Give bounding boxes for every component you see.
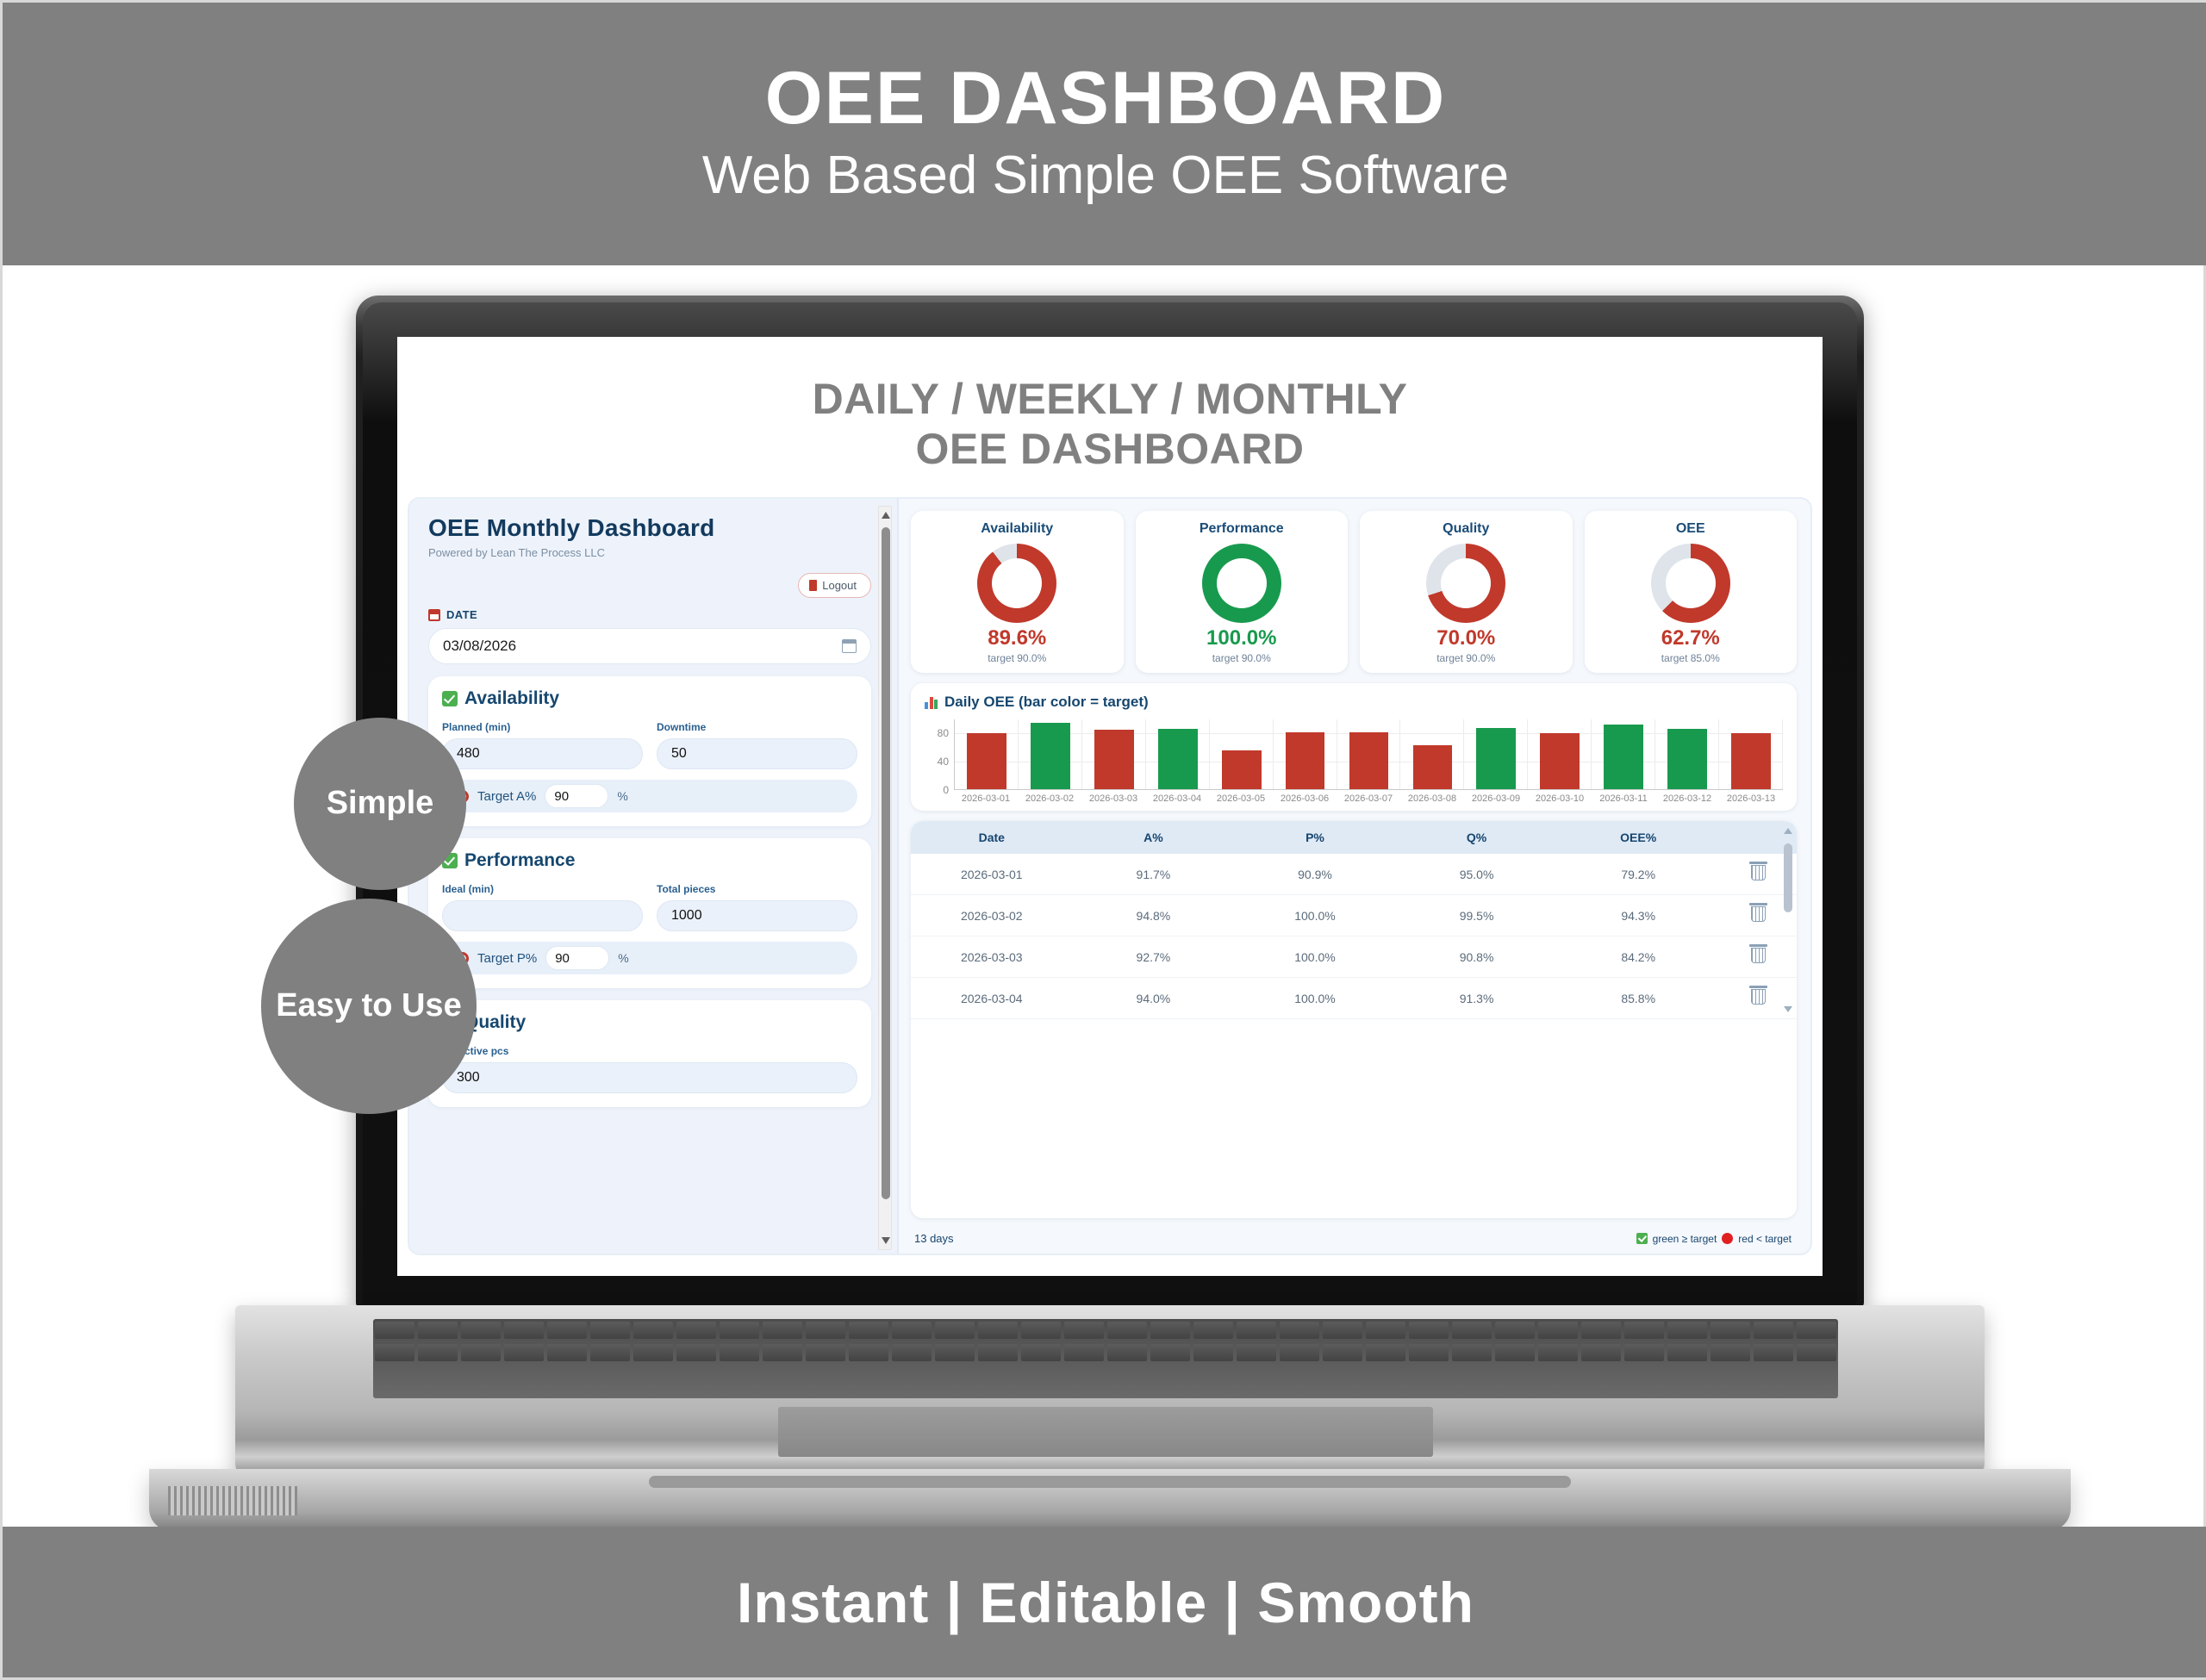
delete-icon[interactable] (1751, 948, 1766, 963)
x-tick-label: 2026-03-02 (1018, 793, 1081, 804)
key (1323, 1322, 1362, 1339)
cell-p: 90.9% (1234, 854, 1396, 895)
cell-date: 2026-03-03 (911, 936, 1073, 978)
delete-icon[interactable] (1751, 989, 1766, 1005)
planned-field: Planned (min) 480 (442, 721, 643, 769)
left-panel-scrollbar[interactable] (878, 506, 892, 1250)
x-tick-label: 2026-03-08 (1400, 793, 1464, 804)
key (1452, 1322, 1492, 1339)
top-banner: OEE DASHBOARD Web Based Simple OEE Softw… (3, 3, 2206, 265)
downtime-input[interactable]: 50 (657, 738, 857, 769)
kpi-name: Performance (1143, 521, 1342, 537)
key (1021, 1322, 1061, 1339)
target-p-input[interactable]: 90 (545, 946, 609, 970)
daily-oee-chart-panel: Daily OEE (bar color = target) 04080 202… (911, 683, 1797, 811)
donut-hole (1441, 558, 1491, 608)
key (1797, 1322, 1836, 1339)
chart-bar[interactable] (1731, 733, 1771, 789)
key (892, 1344, 932, 1361)
cell-oee: 94.3% (1557, 895, 1719, 936)
key (935, 1344, 975, 1361)
days-count: 13 days (914, 1232, 954, 1245)
performance-heading: Performance (442, 850, 857, 871)
y-tick: 0 (943, 784, 949, 796)
key (1107, 1344, 1147, 1361)
table-row: 2026-03-0294.8%100.0%99.5%94.3% (911, 895, 1797, 936)
chart-y-axis: 04080 (925, 719, 952, 790)
key (1280, 1344, 1319, 1361)
key (1409, 1344, 1449, 1361)
cell-date: 2026-03-02 (911, 895, 1073, 936)
logout-icon (809, 580, 817, 591)
banner-footer-text: Instant | Editable | Smooth (737, 1570, 1474, 1635)
availability-title: Availability (464, 688, 559, 709)
key (892, 1322, 932, 1339)
laptop-lid: DAILY / WEEKLY / MONTHLY OEE DASHBOARD O… (356, 296, 1864, 1308)
cell-date: 2026-03-04 (911, 978, 1073, 1019)
ideal-label: Ideal (min) (442, 883, 643, 895)
x-tick-label: 2026-03-12 (1655, 793, 1719, 804)
availability-heading: Availability (442, 688, 857, 709)
total-pieces-input[interactable]: 1000 (657, 900, 857, 931)
key (547, 1322, 587, 1339)
key (418, 1344, 458, 1361)
table-scroll-wrapper: DateA%P%Q%OEE% 2026-03-0191.7%90.9%95.0%… (911, 821, 1797, 1019)
key (1624, 1322, 1664, 1339)
key (978, 1322, 1018, 1339)
logout-label: Logout (822, 579, 857, 592)
kpi-donut (1651, 544, 1730, 623)
scroll-up-icon[interactable] (882, 512, 890, 519)
screen-headline-line2: OEE DASHBOARD (397, 425, 1823, 475)
downtime-label: Downtime (657, 721, 857, 733)
table-head: DateA%P%Q%OEE% (911, 821, 1797, 854)
key (806, 1322, 845, 1339)
key (720, 1344, 759, 1361)
input-panel: OEE Monthly Dashboard Powered by Lean Th… (409, 499, 899, 1254)
key (1667, 1322, 1707, 1339)
logout-button[interactable]: Logout (798, 573, 871, 598)
cell-p: 100.0% (1234, 978, 1396, 1019)
key (806, 1344, 845, 1361)
x-tick-label: 2026-03-10 (1528, 793, 1592, 804)
donut-hole (992, 558, 1042, 608)
kpi-value: 62.7% (1592, 626, 1791, 650)
cell-q: 91.3% (1396, 978, 1558, 1019)
screen-headline: DAILY / WEEKLY / MONTHLY OEE DASHBOARD (397, 337, 1823, 474)
kpi-value: 89.6% (918, 626, 1117, 650)
cell-oee: 85.8% (1557, 978, 1719, 1019)
table-body: 2026-03-0191.7%90.9%95.0%79.2%2026-03-02… (911, 854, 1797, 1019)
daily-oee-table: DateA%P%Q%OEE% 2026-03-0191.7%90.9%95.0%… (911, 821, 1797, 1019)
key (547, 1344, 587, 1361)
key (1021, 1344, 1061, 1361)
key (1581, 1322, 1621, 1339)
chart-bar[interactable] (1349, 732, 1389, 789)
key (1323, 1344, 1362, 1361)
legend-red-icon (1722, 1233, 1733, 1244)
scrollbar-thumb[interactable] (1784, 843, 1792, 912)
cell-q: 95.0% (1396, 854, 1558, 895)
scroll-down-icon[interactable] (1784, 1006, 1792, 1012)
key (1797, 1344, 1836, 1361)
kpi-name: OEE (1592, 521, 1791, 537)
banner-title: OEE DASHBOARD (765, 59, 1447, 137)
key (461, 1344, 501, 1361)
key (1107, 1322, 1147, 1339)
check-icon (442, 691, 458, 706)
legend-green-label: green ≥ target (1653, 1233, 1717, 1245)
chart-plot-area (954, 719, 1783, 790)
target-a-unit: % (617, 789, 627, 803)
key (1624, 1344, 1664, 1361)
target-p-unit: % (618, 951, 628, 965)
ideal-input[interactable] (442, 900, 643, 931)
x-tick-label: 2026-03-03 (1081, 793, 1145, 804)
chart-bar[interactable] (1031, 723, 1070, 789)
calendar-icon (428, 609, 440, 621)
bar-slot (1210, 719, 1274, 789)
table-column-header[interactable]: A% (1073, 821, 1235, 854)
table-scrollbar[interactable] (1783, 824, 1793, 1016)
table-column-header[interactable]: Q% (1396, 821, 1558, 854)
key (1366, 1322, 1405, 1339)
key (590, 1344, 630, 1361)
y-tick: 40 (938, 756, 949, 768)
key (461, 1322, 501, 1339)
table-row: 2026-03-0191.7%90.9%95.0%79.2% (911, 854, 1797, 895)
badge-easy-label: Easy to Use (276, 988, 461, 1024)
cell-date: 2026-03-01 (911, 854, 1073, 895)
x-tick-label: 2026-03-13 (1719, 793, 1783, 804)
bar-slot (1592, 719, 1655, 789)
kpi-target: target 90.0% (1367, 652, 1566, 664)
ideal-field: Ideal (min) (442, 883, 643, 931)
date-value: 03/08/2026 (443, 638, 516, 655)
scroll-down-icon[interactable] (882, 1237, 890, 1244)
chart-bar[interactable] (1158, 729, 1198, 789)
defective-field: Defective pcs 300 (442, 1045, 857, 1093)
app-title: OEE Monthly Dashboard (428, 514, 871, 542)
kpi-row: Availability89.6%target 90.0%Performance… (911, 511, 1797, 673)
badge-simple: Simple (294, 718, 466, 890)
key (978, 1344, 1018, 1361)
availability-card: Availability Planned (min) 480 Downtime … (428, 676, 871, 826)
bar-slot (1719, 719, 1783, 789)
key (1150, 1322, 1190, 1339)
key (504, 1344, 544, 1361)
laptop-screen: DAILY / WEEKLY / MONTHLY OEE DASHBOARD O… (397, 337, 1823, 1276)
kpi-card-quality: Quality70.0%target 90.0% (1360, 511, 1573, 673)
chart-bar[interactable] (1476, 728, 1516, 789)
planned-input[interactable]: 480 (442, 738, 643, 769)
downtime-field: Downtime 50 (657, 721, 857, 769)
key (1237, 1322, 1276, 1339)
key (1667, 1344, 1707, 1361)
trackpad (778, 1407, 1433, 1457)
daily-table-panel: DateA%P%Q%OEE% 2026-03-0191.7%90.9%95.0%… (911, 821, 1797, 1218)
table-column-header[interactable]: P% (1234, 821, 1396, 854)
total-pieces-label: Total pieces (657, 883, 857, 895)
table-column-header[interactable]: Date (911, 821, 1073, 854)
cell-a: 91.7% (1073, 854, 1235, 895)
chart-bar[interactable] (1094, 730, 1134, 789)
legend-red-label: red < target (1738, 1233, 1792, 1245)
screen-headline-line1: DAILY / WEEKLY / MONTHLY (397, 375, 1823, 425)
quality-fields: Defective pcs 300 (442, 1045, 857, 1093)
key (1409, 1322, 1449, 1339)
cell-p: 100.0% (1234, 895, 1396, 936)
key (676, 1322, 716, 1339)
cell-a: 94.0% (1073, 978, 1235, 1019)
cell-oee: 79.2% (1557, 854, 1719, 895)
badge-easy-to-use: Easy to Use (261, 899, 477, 1114)
kpi-value: 100.0% (1143, 626, 1342, 650)
donut-hole (1666, 558, 1716, 608)
key (1237, 1344, 1276, 1361)
quality-heading: Quality (442, 1012, 857, 1033)
scrollbar-thumb[interactable] (882, 527, 890, 1199)
bar-slot (1655, 719, 1719, 789)
chart-x-labels: 2026-03-012026-03-022026-03-032026-03-04… (954, 793, 1783, 804)
key (1193, 1344, 1233, 1361)
key (1495, 1344, 1535, 1361)
key (763, 1322, 802, 1339)
key (504, 1322, 544, 1339)
date-input[interactable]: 03/08/2026 (428, 628, 871, 664)
results-panel: Availability89.6%target 90.0%Performance… (899, 499, 1810, 1254)
x-tick-label: 2026-03-04 (1145, 793, 1209, 804)
table-header-row: DateA%P%Q%OEE% (911, 821, 1797, 854)
performance-title: Performance (464, 850, 575, 871)
calendar-picker-icon[interactable] (842, 639, 857, 653)
kpi-donut (1202, 544, 1281, 623)
chart-bar[interactable] (1222, 750, 1262, 789)
cell-a: 94.8% (1073, 895, 1235, 936)
chart-bar[interactable] (1667, 729, 1707, 789)
donut-hole (1217, 558, 1267, 608)
scroll-up-icon[interactable] (1784, 828, 1792, 834)
key (1150, 1344, 1190, 1361)
kpi-donut (1426, 544, 1505, 623)
cell-p: 100.0% (1234, 936, 1396, 978)
key (375, 1344, 414, 1361)
vent-grille (168, 1486, 297, 1515)
key (1538, 1322, 1578, 1339)
bottom-banner: Instant | Editable | Smooth (3, 1527, 2206, 1677)
bar-slot (1082, 719, 1146, 789)
performance-card: Performance Ideal (min) Total pieces 100… (428, 838, 871, 988)
x-tick-label: 2026-03-07 (1337, 793, 1400, 804)
legend-green-icon (1636, 1233, 1648, 1244)
key (763, 1344, 802, 1361)
key (1754, 1344, 1793, 1361)
key (1581, 1344, 1621, 1361)
total-pieces-field: Total pieces 1000 (657, 883, 857, 931)
logout-row: Logout (428, 573, 871, 598)
kpi-target: target 85.0% (1592, 652, 1791, 664)
daily-oee-chart: 04080 2026-03-012026-03-022026-03-032026… (925, 719, 1783, 802)
bar-slot (1528, 719, 1592, 789)
kpi-donut (977, 544, 1056, 623)
x-tick-label: 2026-03-11 (1592, 793, 1655, 804)
y-tick: 80 (938, 727, 949, 739)
cell-q: 99.5% (1396, 895, 1558, 936)
target-p-label: Target P% (477, 951, 537, 966)
bar-chart-icon (925, 696, 938, 709)
x-tick-label: 2026-03-01 (954, 793, 1018, 804)
date-label: DATE (428, 608, 871, 621)
delete-icon[interactable] (1751, 906, 1766, 922)
date-label-text: DATE (446, 608, 477, 621)
bar-slot (1337, 719, 1401, 789)
target-p-row: Target P% 90 % (442, 942, 857, 974)
key (1754, 1322, 1793, 1339)
planned-label: Planned (min) (442, 721, 643, 733)
oee-app: OEE Monthly Dashboard Powered by Lean Th… (408, 497, 1812, 1255)
cell-q: 90.8% (1396, 936, 1558, 978)
key (1452, 1344, 1492, 1361)
target-a-label: Target A% (477, 789, 536, 804)
app-subtitle: Powered by Lean The Process LLC (428, 546, 871, 559)
key (1711, 1344, 1750, 1361)
badge-simple-label: Simple (327, 786, 434, 822)
chart-title-row: Daily OEE (bar color = target) (925, 694, 1783, 711)
quality-card: Quality Defective pcs 300 (428, 1000, 871, 1107)
defective-input[interactable]: 300 (442, 1062, 857, 1093)
bar-slot (1019, 719, 1082, 789)
kpi-card-oee: OEE62.7%target 85.0% (1585, 511, 1798, 673)
key (720, 1322, 759, 1339)
key (633, 1322, 673, 1339)
keyboard (373, 1319, 1838, 1398)
key (1280, 1322, 1319, 1339)
chart-legend: green ≥ target red < target (1636, 1233, 1792, 1245)
target-a-input[interactable]: 90 (545, 784, 608, 808)
bar-slot (955, 719, 1019, 789)
key (849, 1322, 888, 1339)
target-a-row: Target A% 90 % (442, 780, 857, 812)
chart-bar[interactable] (1540, 733, 1580, 789)
key (1193, 1322, 1233, 1339)
cell-a: 92.7% (1073, 936, 1235, 978)
key (375, 1322, 414, 1339)
key (1064, 1344, 1104, 1361)
key (849, 1344, 888, 1361)
bar-slot (1400, 719, 1464, 789)
kpi-name: Quality (1367, 521, 1566, 537)
bar-slot (1146, 719, 1210, 789)
key (1366, 1344, 1405, 1361)
kpi-target: target 90.0% (1143, 652, 1342, 664)
table-column-header[interactable]: OEE% (1557, 821, 1719, 854)
performance-fields: Ideal (min) Total pieces 1000 (442, 883, 857, 931)
key (676, 1344, 716, 1361)
laptop-front-lip (149, 1469, 2071, 1531)
kpi-target: target 90.0% (918, 652, 1117, 664)
bar-slot (1464, 719, 1528, 789)
kpi-value: 70.0% (1367, 626, 1566, 650)
x-tick-label: 2026-03-05 (1209, 793, 1273, 804)
laptop-base (235, 1305, 1985, 1478)
key (1064, 1322, 1104, 1339)
bar-slot (1274, 719, 1337, 789)
key (1538, 1344, 1578, 1361)
key (590, 1322, 630, 1339)
key (418, 1322, 458, 1339)
defective-label: Defective pcs (442, 1045, 857, 1057)
key (1495, 1322, 1535, 1339)
chart-bar[interactable] (1286, 732, 1325, 789)
laptop-mockup: DAILY / WEEKLY / MONTHLY OEE DASHBOARD O… (235, 296, 1985, 1502)
kpi-card-performance: Performance100.0%target 90.0% (1136, 511, 1349, 673)
chart-bar[interactable] (1413, 745, 1453, 789)
kpi-card-availability: Availability89.6%target 90.0% (911, 511, 1124, 673)
delete-icon[interactable] (1751, 865, 1766, 880)
x-tick-label: 2026-03-09 (1464, 793, 1528, 804)
poster-root: OEE DASHBOARD Web Based Simple OEE Softw… (0, 0, 2206, 1680)
key (935, 1322, 975, 1339)
availability-fields: Planned (min) 480 Downtime 50 (442, 721, 857, 769)
results-footer: 13 days green ≥ target red < target (911, 1229, 1797, 1245)
kpi-name: Availability (918, 521, 1117, 537)
key (633, 1344, 673, 1361)
chart-bar[interactable] (1604, 725, 1643, 789)
table-row: 2026-03-0392.7%100.0%90.8%84.2% (911, 936, 1797, 978)
table-row: 2026-03-0494.0%100.0%91.3%85.8% (911, 978, 1797, 1019)
x-tick-label: 2026-03-06 (1273, 793, 1337, 804)
key (1711, 1322, 1750, 1339)
chart-title: Daily OEE (bar color = target) (944, 694, 1149, 711)
banner-subtitle: Web Based Simple OEE Software (702, 144, 1509, 208)
cell-oee: 84.2% (1557, 936, 1719, 978)
chart-bar[interactable] (967, 733, 1006, 789)
